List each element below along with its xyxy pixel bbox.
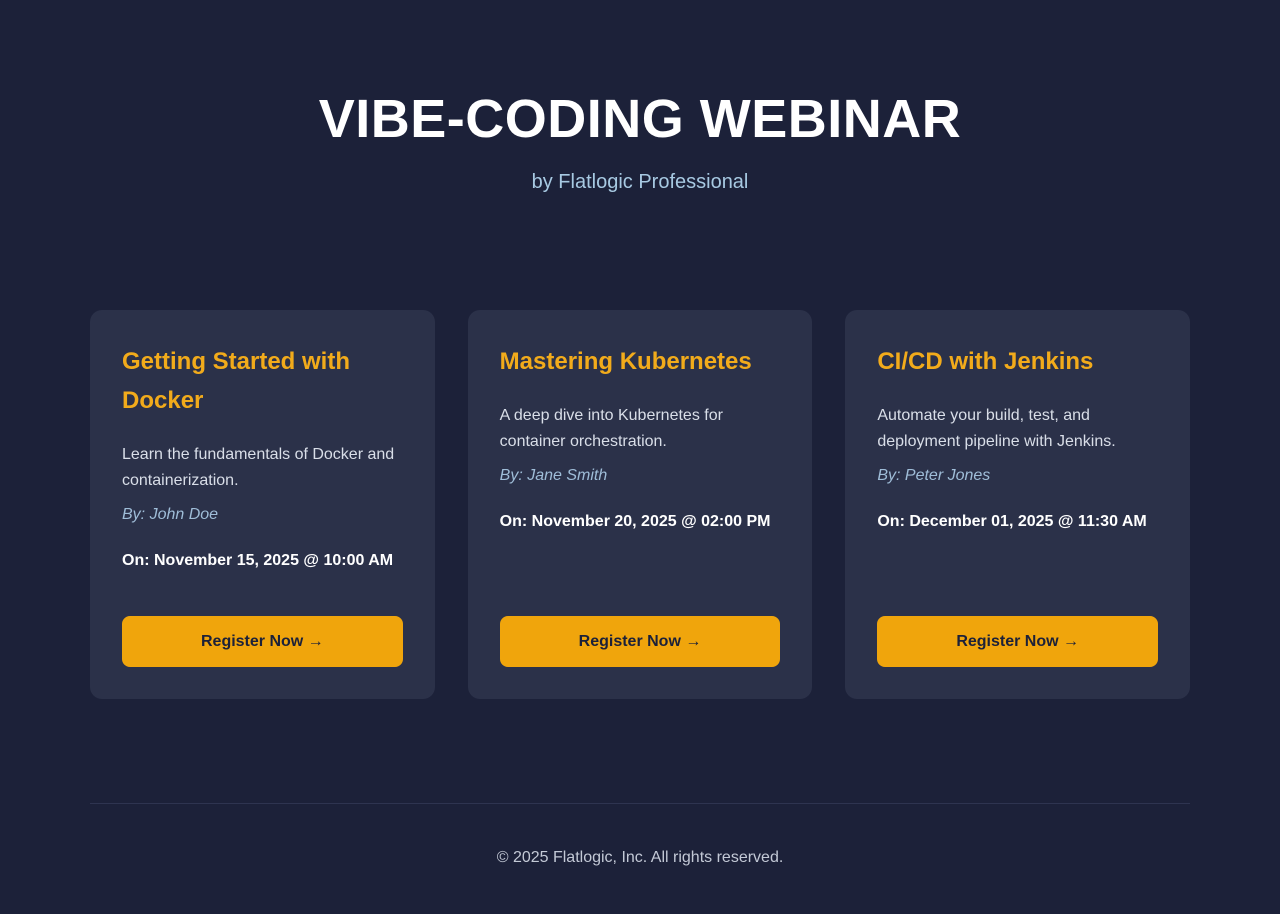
webinar-card: Getting Started with Docker Learn the fu… (90, 310, 435, 699)
webinar-date: On: December 01, 2025 @ 11:30 AM (877, 509, 1158, 535)
webinar-description: A deep dive into Kubernetes for containe… (500, 403, 781, 455)
webinar-title: Getting Started with Docker (122, 342, 403, 420)
webinar-card: Mastering Kubernetes A deep dive into Ku… (468, 310, 813, 699)
register-now-button[interactable]: Register Now → (877, 616, 1158, 667)
webinar-description: Automate your build, test, and deploymen… (877, 403, 1158, 455)
webinar-author: By: John Doe (122, 502, 403, 528)
webinar-card: CI/CD with Jenkins Automate your build, … (845, 310, 1190, 699)
webinar-card-list: Getting Started with Docker Learn the fu… (90, 310, 1190, 699)
register-now-button[interactable]: Register Now → (500, 616, 781, 667)
footer-divider (90, 803, 1190, 804)
webinar-author: By: Peter Jones (877, 463, 1158, 489)
webinar-title: Mastering Kubernetes (500, 342, 781, 381)
webinar-landing-page: VIBE-CODING WEBINAR by Flatlogic Profess… (0, 0, 1280, 914)
webinar-date: On: November 15, 2025 @ 10:00 AM (122, 548, 403, 574)
page-subtitle: by Flatlogic Professional (0, 168, 1280, 196)
webinar-description: Learn the fundamentals of Docker and con… (122, 442, 403, 494)
footer-copyright: © 2025 Flatlogic, Inc. All rights reserv… (90, 846, 1190, 870)
webinar-author: By: Jane Smith (500, 463, 781, 489)
page-header: VIBE-CODING WEBINAR by Flatlogic Profess… (0, 0, 1280, 196)
page-title: VIBE-CODING WEBINAR (0, 88, 1280, 150)
webinar-title: CI/CD with Jenkins (877, 342, 1158, 381)
register-now-button[interactable]: Register Now → (122, 616, 403, 667)
page-footer: © 2025 Flatlogic, Inc. All rights reserv… (90, 803, 1190, 914)
webinar-date: On: November 20, 2025 @ 02:00 PM (500, 509, 781, 535)
